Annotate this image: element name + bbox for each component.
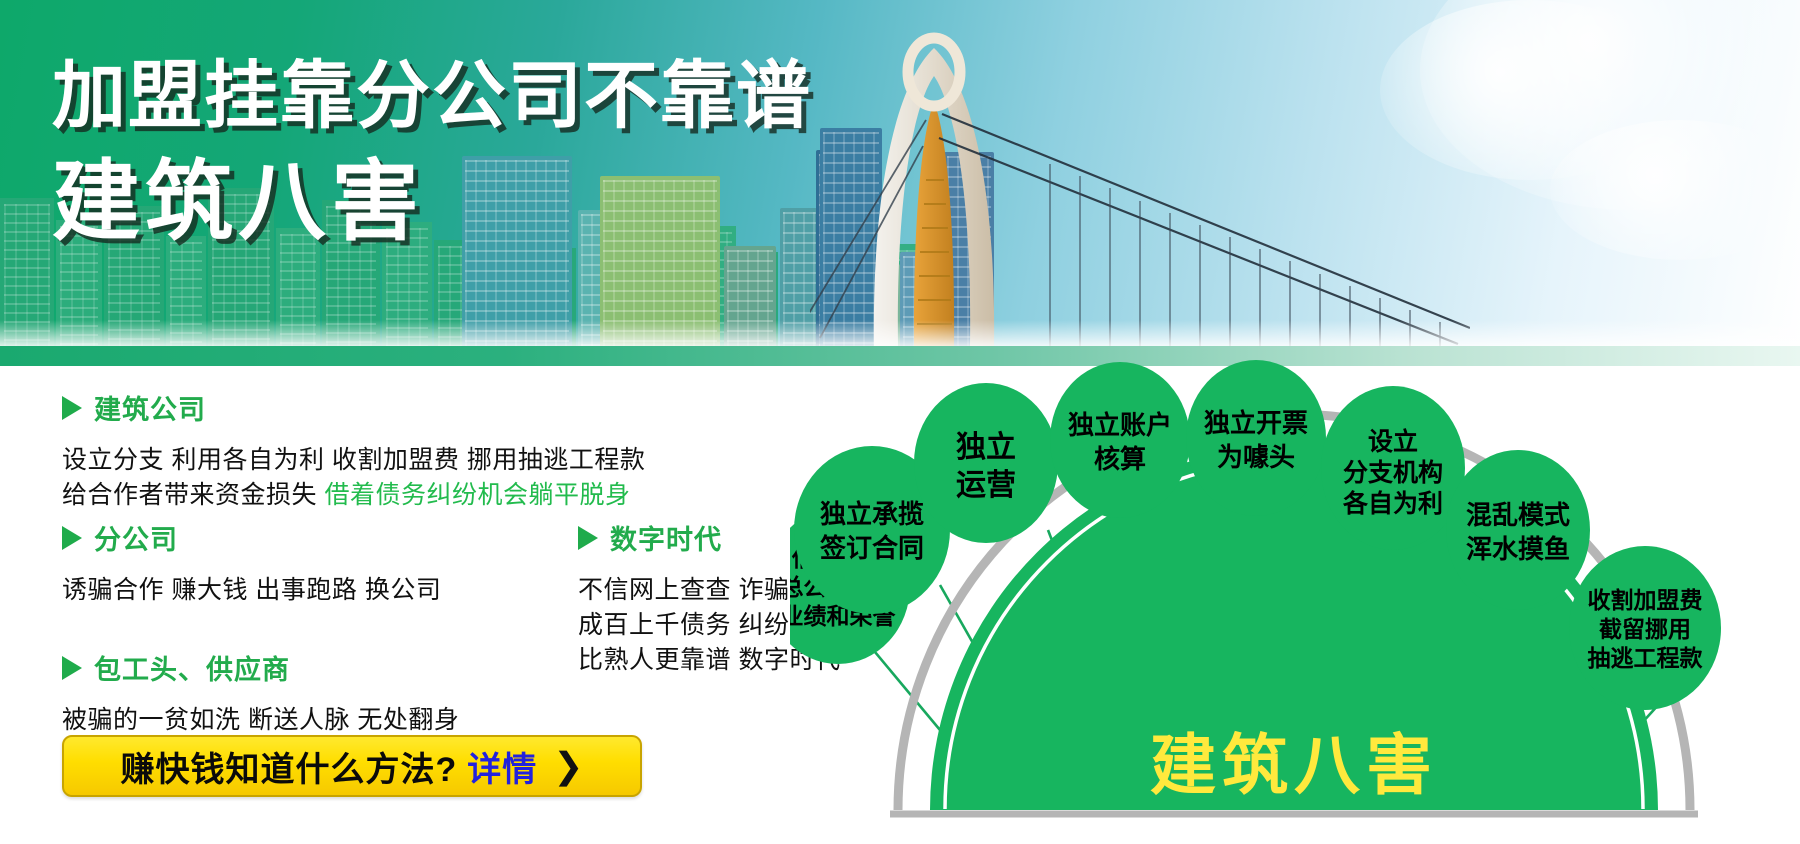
bubble-circle [1050, 362, 1190, 518]
triangle-bullet-icon [62, 396, 82, 420]
bubble-line: 独立承揽 [820, 499, 924, 529]
bubble-line: 分支机构 [1343, 459, 1443, 487]
cta-button[interactable]: 赚快钱知道什么方法? 详情 ❯ [62, 735, 642, 797]
section-body: 设立分支 利用各自为利 收割加盟费 挪用抽逃工程款 给合作者带来资金损失 借着债… [62, 443, 762, 513]
bubble-line: 独立开票 [1204, 408, 1308, 438]
bubble-line: 抽逃工程款 [1588, 645, 1704, 671]
section-construction-company: 建筑公司 设立分支 利用各自为利 收割加盟费 挪用抽逃工程款 给合作者带来资金损… [62, 388, 762, 513]
hero-banner: 加盟挂靠分公司不靠谱 建筑八害 [0, 0, 1800, 366]
bubble-line: 签订合同 [820, 533, 924, 563]
poster-root: 加盟挂靠分公司不靠谱 建筑八害 建筑公司 设立分支 利用各自为利 收割加盟费 挪… [0, 0, 1800, 844]
eight-harms-diagram: 建筑八害 借着使用 总公司资质 业绩和荣誉 独立承揽 签订合同 独立 运营 [790, 340, 1800, 844]
chevron-right-icon: ❯ [553, 748, 583, 784]
hero-title-group: 加盟挂靠分公司不靠谱 建筑八害 [52, 54, 812, 252]
section-header: 建筑公司 [62, 388, 762, 427]
bubble-line: 混乱模式 [1466, 500, 1570, 530]
bubble-line: 设立 [1368, 427, 1418, 456]
bubble-independent-account[interactable]: 独立账户 核算 [1050, 362, 1190, 518]
body-line: 设立分支 利用各自为利 收割加盟费 挪用抽逃工程款 [62, 443, 762, 478]
bubble-line: 截留挪用 [1599, 616, 1691, 642]
bubble-line: 浑水摸鱼 [1466, 534, 1570, 564]
body-text-black: 设立分支 利用各自为利 收割加盟费 挪用抽逃工程款 [62, 446, 645, 474]
section-title: 分公司 [94, 518, 178, 557]
cloud-icon [1420, 0, 1800, 210]
bubble-line: 核算 [1094, 444, 1146, 474]
bubble-independent-operation[interactable]: 独立 运营 [914, 383, 1058, 543]
body-text-black: 诱骗合作 赚大钱 出事跑路 换公司 [62, 576, 441, 604]
body-text-black: 被骗的一贫如洗 断送人脉 无处翻身 [62, 706, 459, 734]
body-line: 给合作者带来资金损失 借着债务纠纷机会躺平脱身 [62, 478, 762, 513]
dome-center-label: 建筑八害 [1150, 728, 1438, 802]
cloud-icon [1550, 120, 1800, 260]
triangle-bullet-icon [62, 656, 82, 680]
section-body: 被骗的一贫如洗 断送人脉 无处翻身 [62, 703, 702, 738]
hero-title-line1: 加盟挂靠分公司不靠谱 [52, 54, 812, 138]
hero-title-line2: 建筑八害 [52, 152, 812, 252]
bubble-circle [1446, 450, 1590, 610]
bubble-setup-branches[interactable]: 设立 分支机构 各自为利 [1321, 386, 1465, 550]
bubble-line: 各自为利 [1342, 489, 1443, 518]
bubble-line: 为噱头 [1217, 442, 1295, 472]
body-text-green: 借着债务纠纷机会躺平脱身 [324, 481, 630, 509]
bubble-independent-invoicing[interactable]: 独立开票 为噱头 [1186, 360, 1326, 516]
cta-link-label[interactable]: 详情 [467, 742, 537, 791]
body-text-black: 给合作者带来资金损失 [62, 481, 324, 509]
bubble-line: 收割加盟费 [1588, 587, 1703, 613]
bubble-chaotic-mode[interactable]: 混乱模式 浑水摸鱼 [1446, 450, 1590, 610]
diagram-svg: 建筑八害 借着使用 总公司资质 业绩和荣誉 独立承揽 签订合同 独立 运营 [790, 340, 1800, 844]
bubble-line: 独立 [956, 430, 1016, 464]
bubble-harvest-fees[interactable]: 收割加盟费 截留挪用 抽逃工程款 [1569, 546, 1721, 710]
bubble-line: 运营 [956, 469, 1016, 502]
section-title: 建筑公司 [94, 388, 206, 427]
body-line: 被骗的一贫如洗 断送人脉 无处翻身 [62, 703, 702, 738]
section-title: 包工头、供应商 [94, 648, 290, 687]
triangle-bullet-icon [62, 526, 82, 550]
bubble-line: 独立账户 [1068, 410, 1172, 440]
bridge-graphic [810, 28, 1470, 348]
triangle-bullet-icon [578, 526, 598, 550]
section-title: 数字时代 [610, 518, 722, 557]
bubble-circle [1186, 360, 1326, 516]
cta-main-label: 赚快钱知道什么方法? [121, 742, 458, 791]
